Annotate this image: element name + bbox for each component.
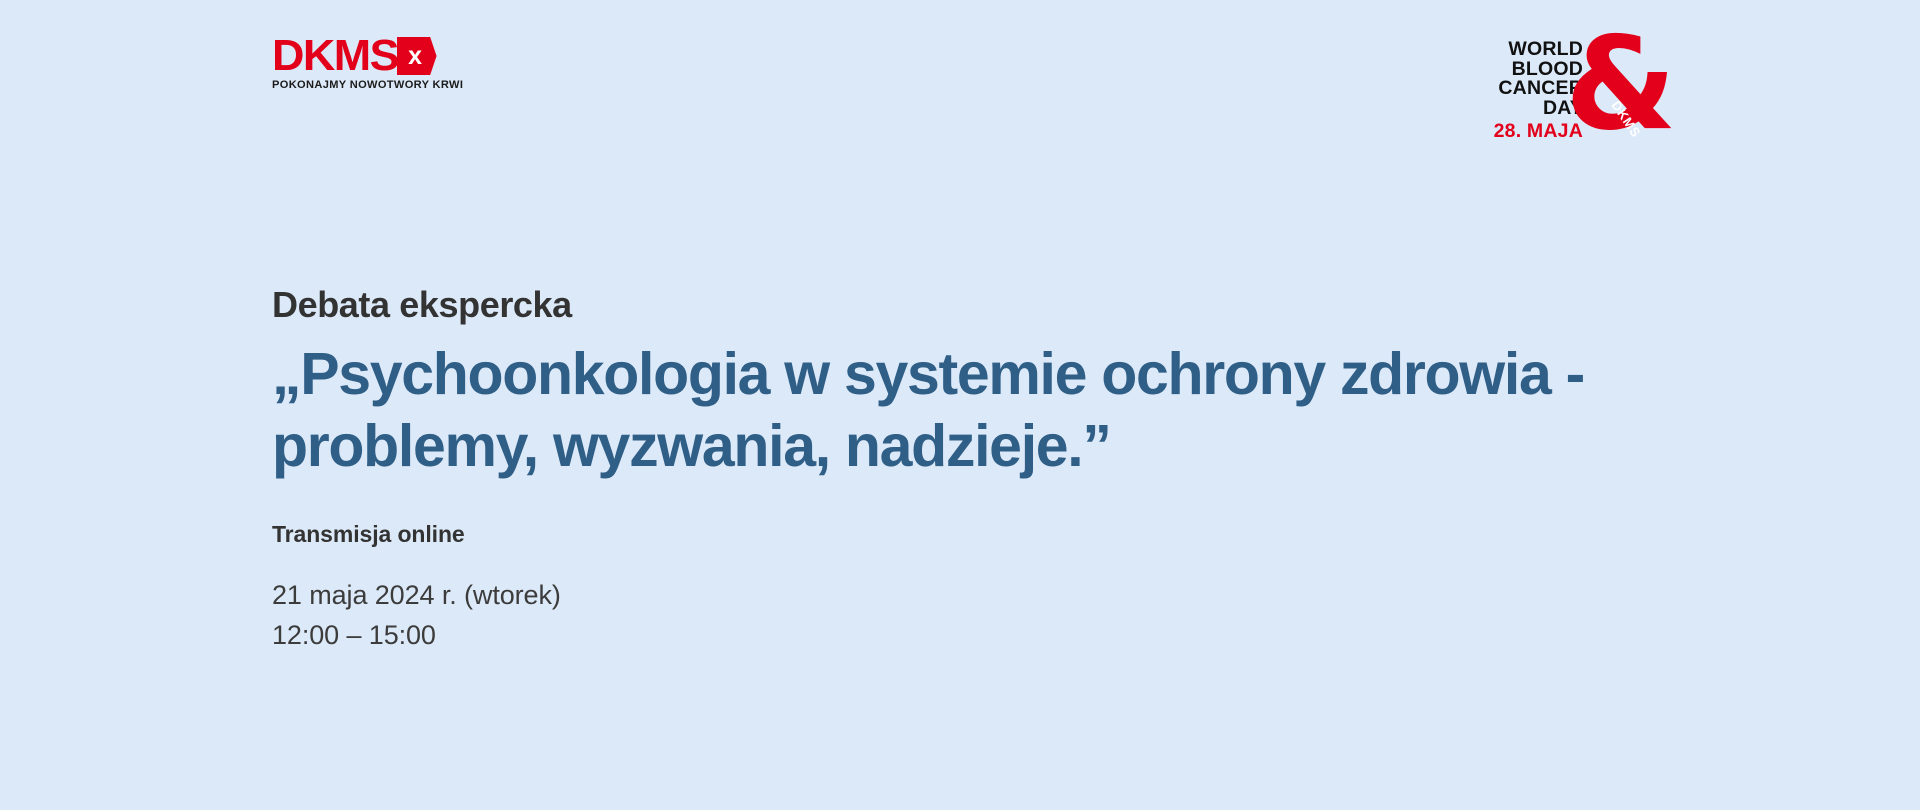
dkms-wordmark-text: DKMS	[272, 36, 398, 76]
dkms-tag-icon: x	[397, 37, 437, 75]
dkms-logo: DKMS x POKONAJMY NOWOTWORY KRWI	[272, 36, 440, 91]
main-content: Debata ekspercka „Psychoonkologia w syst…	[272, 283, 1692, 655]
page-title: „Psychoonkologia w systemie ochrony zdro…	[272, 338, 1662, 482]
event-details: 21 maja 2024 r. (wtorek) 12:00 – 15:00	[272, 575, 1692, 655]
ampersand-glyph: &	[1565, 26, 1677, 144]
event-time: 12:00 – 15:00	[272, 615, 1692, 655]
eyebrow-label: Debata ekspercka	[272, 283, 1692, 327]
ampersand-icon: & DKMS	[1565, 26, 1685, 151]
event-date: 21 maja 2024 r. (wtorek)	[272, 575, 1692, 615]
dkms-tagline: POKONAJMY NOWOTWORY KRWI	[272, 79, 438, 91]
poster-canvas: DKMS x POKONAJMY NOWOTWORY KRWI WORLD BL…	[0, 0, 1920, 810]
world-blood-cancer-day-logo: WORLD BLOOD CANCER DAY 28. MAJA & DKMS	[1465, 36, 1680, 146]
broadcast-label: Transmisja online	[272, 519, 1692, 549]
dkms-wordmark: DKMS x	[272, 36, 440, 76]
dkms-tag-letter: x	[408, 44, 422, 69]
